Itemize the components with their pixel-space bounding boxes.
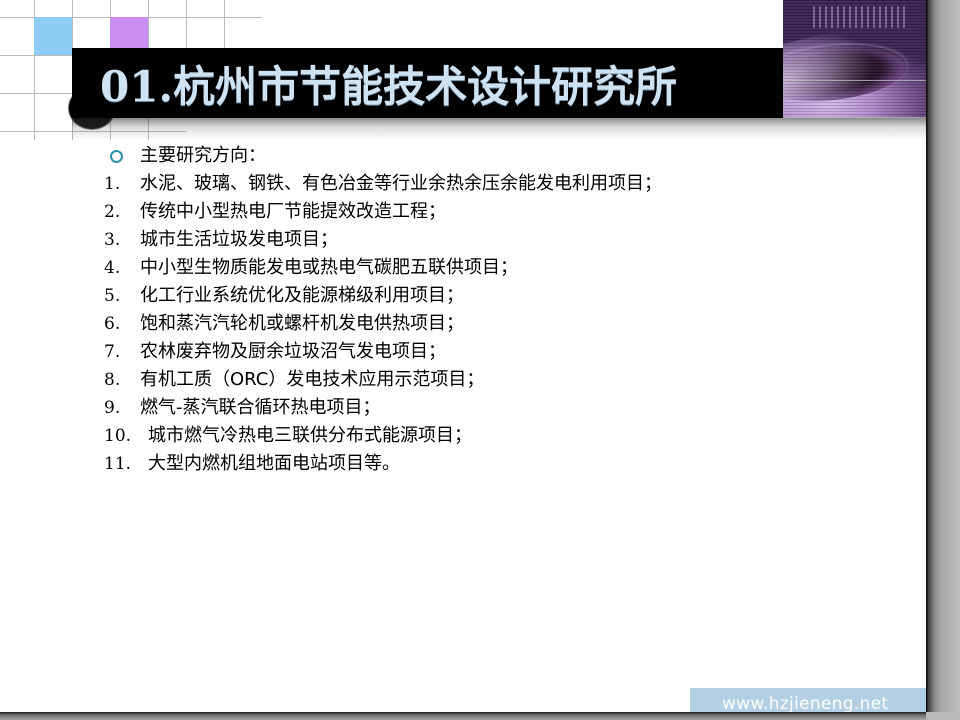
list-item-marker: 11.: [104, 450, 148, 478]
list-item-label: 农林废弃物及厨余垃圾沼气发电项目；: [140, 338, 446, 366]
list-item-marker: 9.: [104, 394, 140, 422]
list-item-marker: 3.: [104, 226, 140, 254]
list-item-lead: 主要研究方向：: [104, 142, 884, 170]
list-item-marker: 7.: [104, 338, 140, 366]
list-item-marker: 2.: [104, 198, 140, 226]
slide-edge-bottom: [0, 712, 926, 720]
list-item: 3. 城市生活垃圾发电项目；: [104, 226, 884, 254]
list-item: 2. 传统中小型热电厂节能提效改造工程；: [104, 198, 884, 226]
ring-bullet-icon: [104, 142, 140, 170]
list-item-marker: 4.: [104, 254, 140, 282]
list-item-label: 城市生活垃圾发电项目；: [140, 226, 338, 254]
grid-line-horizontal: [783, 80, 926, 81]
artwork-scanlines: [783, 0, 926, 118]
list-item: 10. 城市燃气冷热电三联供分布式能源项目；: [104, 422, 884, 450]
slide-edge-right: [926, 0, 960, 720]
list-item: 9. 燃气-蒸汽联合循环热电项目；: [104, 394, 884, 422]
list-item-label: 大型内燃机组地面电站项目等。: [148, 450, 400, 478]
list-item-label: 有机工质（ORC）发电技术应用示范项目；: [140, 366, 484, 394]
list-item: 7. 农林废弃物及厨余垃圾沼气发电项目；: [104, 338, 884, 366]
list-item-label: 燃气-蒸汽联合循环热电项目；: [140, 394, 381, 422]
list-item-marker: 6.: [104, 310, 140, 338]
list-item-label: 饱和蒸汽汽轮机或螺杆机发电供热项目；: [140, 310, 464, 338]
list-item-marker: 5.: [104, 282, 140, 310]
list-item-label: 主要研究方向：: [140, 142, 266, 170]
grid-line-horizontal: [783, 117, 926, 118]
list-item-label: 中小型生物质能发电或热电气碳肥五联供项目；: [140, 254, 518, 282]
list-item-label: 传统中小型热电厂节能提效改造工程；: [140, 198, 446, 226]
slide-root: 01.杭州市节能技术设计研究所 主要研究方向： 1. 水泥、玻璃、钢铁、有色冶金…: [0, 0, 960, 720]
decor-artwork-purple: [783, 0, 926, 118]
list-item: 1. 水泥、玻璃、钢铁、有色冶金等行业余热余压余能发电利用项目；: [104, 170, 884, 198]
title-band-shadow: [72, 118, 926, 140]
list-item: 4. 中小型生物质能发电或热电气碳肥五联供项目；: [104, 254, 884, 282]
page-title: 01.杭州市节能技术设计研究所: [100, 48, 677, 118]
footer-bar: www.hzjieneng.net: [690, 688, 926, 712]
grid-line-vertical: [186, 0, 187, 48]
list-item-marker: 10.: [104, 422, 148, 450]
list-item-marker: 1.: [104, 170, 140, 198]
list-item-label: 水泥、玻璃、钢铁、有色冶金等行业余热余压余能发电利用项目；: [140, 170, 662, 198]
footer-url[interactable]: www.hzjieneng.net: [722, 688, 888, 712]
list-item: 8. 有机工质（ORC）发电技术应用示范项目；: [104, 366, 884, 394]
content-list: 主要研究方向： 1. 水泥、玻璃、钢铁、有色冶金等行业余热余压余能发电利用项目；…: [104, 142, 884, 478]
list-item-label: 化工行业系统优化及能源梯级利用项目；: [140, 282, 464, 310]
list-item-label: 城市燃气冷热电三联供分布式能源项目；: [148, 422, 472, 450]
grid-line-vertical: [224, 0, 225, 48]
slide-edge-corner: [926, 712, 960, 720]
list-item: 5. 化工行业系统优化及能源梯级利用项目；: [104, 282, 884, 310]
list-item: 6. 饱和蒸汽汽轮机或螺杆机发电供热项目；: [104, 310, 884, 338]
list-item-marker: 8.: [104, 366, 140, 394]
list-item: 11. 大型内燃机组地面电站项目等。: [104, 450, 884, 478]
slide-canvas: 01.杭州市节能技术设计研究所 主要研究方向： 1. 水泥、玻璃、钢铁、有色冶金…: [0, 0, 926, 712]
decor-square-blue: [34, 17, 72, 55]
